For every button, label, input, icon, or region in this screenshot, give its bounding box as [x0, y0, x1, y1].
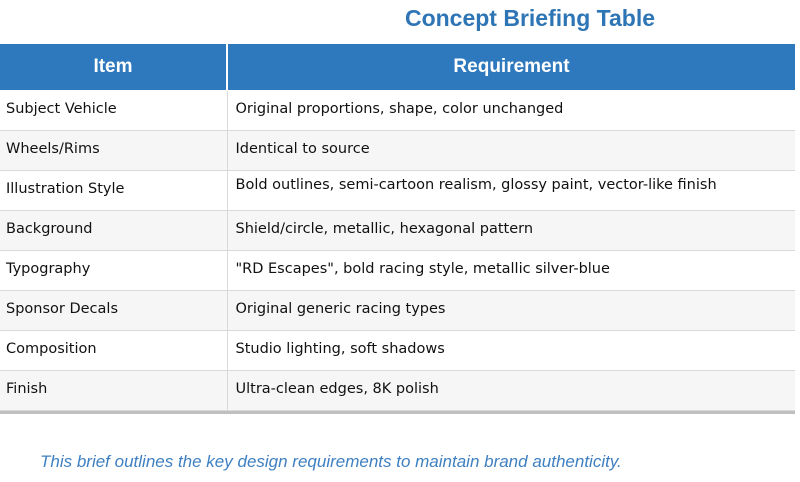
cell-requirement: Original proportions, shape, color uncha… [227, 90, 795, 130]
table-row: Composition Studio lighting, soft shadow… [0, 330, 795, 370]
cell-item: Background [0, 210, 227, 250]
page-title-container: Concept Briefing Table [0, 0, 800, 36]
page-title: Concept Briefing Table [405, 5, 655, 32]
table-row: Typography "RD Escapes", bold racing sty… [0, 250, 795, 290]
column-header-item: Item [0, 44, 227, 90]
concept-briefing-table-container: Item Requirement Subject Vehicle Origina… [0, 44, 795, 414]
cell-requirement: Bold outlines, semi-cartoon realism, glo… [227, 170, 795, 210]
cell-requirement: Studio lighting, soft shadows [227, 330, 795, 370]
table-row: Sponsor Decals Original generic racing t… [0, 290, 795, 330]
cell-item: Composition [0, 330, 227, 370]
table-row: Subject Vehicle Original proportions, sh… [0, 90, 795, 130]
table-row: Finish Ultra-clean edges, 8K polish [0, 370, 795, 410]
table-body: Subject Vehicle Original proportions, sh… [0, 90, 795, 410]
table-row: Wheels/Rims Identical to source [0, 130, 795, 170]
cell-requirement: Identical to source [227, 130, 795, 170]
cell-requirement: Ultra-clean edges, 8K polish [227, 370, 795, 410]
cell-requirement: Original generic racing types [227, 290, 795, 330]
table-header-row: Item Requirement [0, 44, 795, 90]
table-header: Item Requirement [0, 44, 795, 90]
cell-item: Sponsor Decals [0, 290, 227, 330]
cell-item: Finish [0, 370, 227, 410]
column-header-requirement: Requirement [227, 44, 795, 90]
cell-item: Typography [0, 250, 227, 290]
cell-requirement: "RD Escapes", bold racing style, metalli… [227, 250, 795, 290]
table-row: Background Shield/circle, metallic, hexa… [0, 210, 795, 250]
footer-caption: This brief outlines the key design requi… [40, 452, 800, 472]
table-row: Illustration Style Bold outlines, semi-c… [0, 170, 795, 210]
cell-item: Illustration Style [0, 170, 227, 210]
cell-item: Subject Vehicle [0, 90, 227, 130]
cell-requirement: Shield/circle, metallic, hexagonal patte… [227, 210, 795, 250]
page-root: Concept Briefing Table Item Requirement … [0, 0, 800, 482]
concept-briefing-table: Item Requirement Subject Vehicle Origina… [0, 44, 795, 411]
cell-item: Wheels/Rims [0, 130, 227, 170]
